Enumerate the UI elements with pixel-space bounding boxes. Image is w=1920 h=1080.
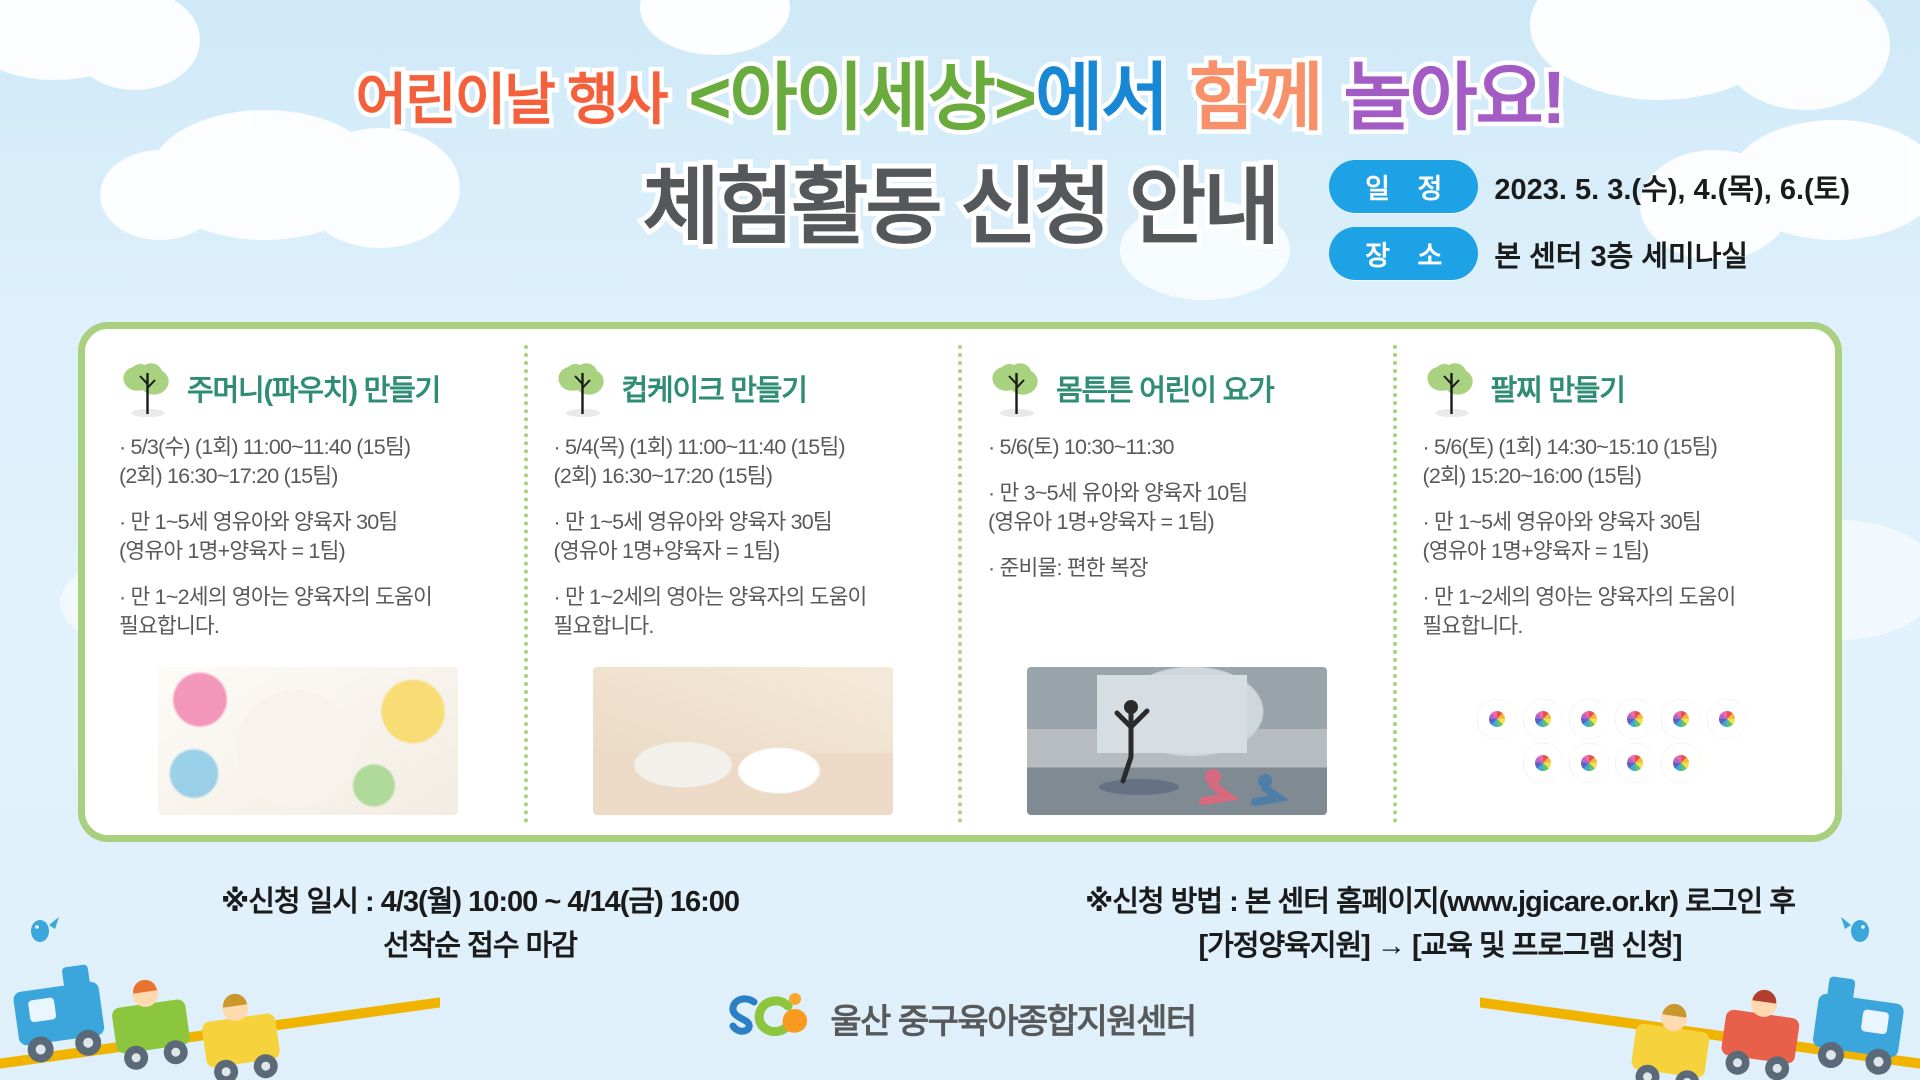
title-orange: 함께 — [1189, 38, 1321, 145]
info-value-location: 본 센터 3층 세미나실 — [1494, 233, 1748, 275]
info-label-location: 장 소 — [1329, 227, 1478, 280]
program-bullet: · 준비물: 편한 복장 — [988, 554, 1375, 583]
info-row-schedule: 일 정 2023. 5. 3.(수), 4.(목), 6.(토) — [1329, 160, 1850, 213]
tree-icon — [119, 357, 177, 419]
program-bullet: · 만 1~5세 영유아와 양육자 30팀 (영유아 1명+양육자 = 1팀) — [554, 508, 941, 566]
title-green: <아이세상> — [688, 38, 1035, 145]
program-header: 컵케이크 만들기 — [554, 351, 941, 425]
title-blue: 에서 — [1035, 38, 1167, 145]
title-purple: 놀아요! — [1343, 38, 1564, 145]
program-bullet: · 만 1~2세의 영아는 양육자의 도움이 필요합니다. — [119, 583, 506, 641]
program-header: 팔찌 만들기 — [1423, 351, 1810, 425]
bracelet-photo — [1462, 667, 1762, 815]
bead-ring — [1569, 699, 1609, 739]
program-details: · 5/3(수) (1회) 11:00~11:40 (15팀) (2회) 16:… — [119, 433, 506, 641]
program-bullet: · 만 1~2세의 영아는 양육자의 도움이 필요합니다. — [1423, 583, 1810, 641]
program-title: 주머니(파우치) 만들기 — [187, 367, 440, 409]
program-column-pouch: 주머니(파우치) 만들기 · 5/3(수) (1회) 11:00~11:40 (… — [93, 345, 524, 823]
program-bullet: · 5/6(토) (1회) 14:30~15:10 (15팀) (2회) 15:… — [1423, 433, 1810, 491]
program-column-bracelet: 팔찌 만들기 · 5/6(토) (1회) 14:30~15:10 (15팀) (… — [1393, 345, 1828, 823]
info-value-schedule: 2023. 5. 3.(수), 4.(목), 6.(토) — [1494, 166, 1850, 208]
program-bullet: · 5/6(토) 10:30~11:30 — [988, 433, 1375, 462]
sc-logo-icon — [724, 990, 816, 1046]
bead-ring — [1569, 743, 1609, 783]
program-title: 컵케이크 만들기 — [622, 367, 807, 409]
center-name: 울산 중구육아종합지원센터 — [830, 994, 1195, 1043]
info-row-location: 장 소 본 센터 3층 세미나실 — [1329, 227, 1850, 280]
program-bullet: · 5/3(수) (1회) 11:00~11:40 (15팀) (2회) 16:… — [119, 433, 506, 491]
bead-ring — [1523, 699, 1563, 739]
programs-card: 주머니(파우치) 만들기 · 5/3(수) (1회) 11:00~11:40 (… — [78, 322, 1842, 842]
program-details: · 5/4(목) (1회) 11:00~11:40 (15팀) (2회) 16:… — [554, 433, 941, 641]
program-column-cupcake: 컵케이크 만들기 · 5/4(목) (1회) 11:00~11:40 (15팀)… — [524, 345, 959, 823]
bead-ring — [1523, 743, 1563, 783]
cupcake-photo — [593, 667, 893, 815]
tree-icon — [1423, 357, 1481, 419]
bead-ring — [1477, 699, 1517, 739]
event-info-box: 일 정 2023. 5. 3.(수), 4.(목), 6.(토) 장 소 본 센… — [1329, 160, 1850, 294]
program-bullet: · 만 1~5세 영유아와 양육자 30팀 (영유아 1명+양육자 = 1팀) — [1423, 508, 1810, 566]
program-title: 팔찌 만들기 — [1491, 367, 1625, 409]
pouch-photo — [158, 667, 458, 815]
poster-root: 어린이날 행사<아이세상>에서함께놀아요! 체험활동 신청 안내 일 정 202… — [0, 0, 1920, 1080]
title-kicker: 어린이날 행사 — [356, 55, 667, 136]
bead-ring — [1615, 743, 1655, 783]
bead-ring — [1615, 699, 1655, 739]
yoga-photo — [1027, 667, 1327, 815]
tree-icon — [554, 357, 612, 419]
program-header: 주머니(파우치) 만들기 — [119, 351, 506, 425]
bead-ring — [1707, 699, 1747, 739]
program-title: 몸튼튼 어린이 요가 — [1056, 367, 1274, 409]
program-details: · 5/6(토) 10:30~11:30 · 만 3~5세 유아와 양육자 10… — [988, 433, 1375, 583]
page-title: 어린이날 행사<아이세상>에서함께놀아요! — [0, 38, 1920, 145]
program-column-yoga: 몸튼튼 어린이 요가 · 5/6(토) 10:30~11:30 · 만 3~5세… — [958, 345, 1393, 823]
bead-ring — [1661, 743, 1701, 783]
train-decoration-left — [0, 905, 440, 1080]
info-label-schedule: 일 정 — [1329, 160, 1478, 213]
program-bullet: · 5/4(목) (1회) 11:00~11:40 (15팀) (2회) 16:… — [554, 433, 941, 491]
program-details: · 5/6(토) (1회) 14:30~15:10 (15팀) (2회) 15:… — [1423, 433, 1810, 641]
program-bullet: · 만 1~5세 영유아와 양육자 30팀 (영유아 1명+양육자 = 1팀) — [119, 508, 506, 566]
program-bullet: · 만 1~2세의 영아는 양육자의 도움이 필요합니다. — [554, 583, 941, 641]
program-bullet: · 만 3~5세 유아와 양육자 10팀 (영유아 1명+양육자 = 1팀) — [988, 479, 1375, 537]
program-header: 몸튼튼 어린이 요가 — [988, 351, 1375, 425]
train-decoration-right — [1480, 905, 1920, 1080]
tree-icon — [988, 357, 1046, 419]
bead-ring — [1661, 699, 1701, 739]
